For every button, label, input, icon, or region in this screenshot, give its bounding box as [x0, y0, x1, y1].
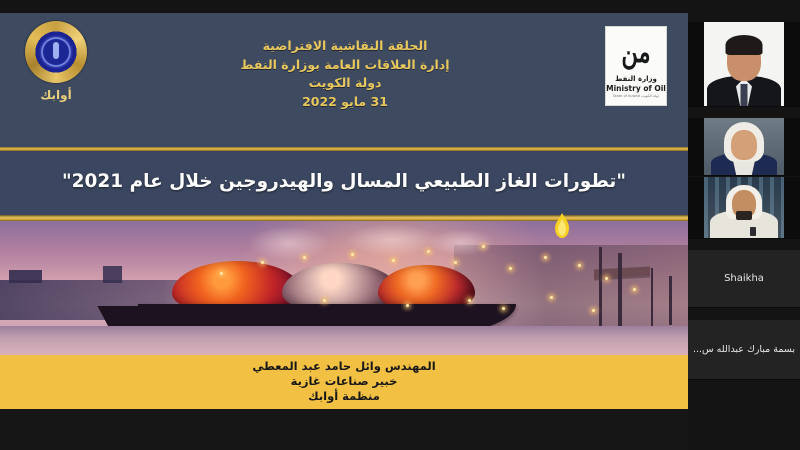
flame-icon	[553, 213, 571, 239]
slide-title-band: "تطورات الغاز الطبيعي المسال والهيدروجين…	[0, 151, 688, 215]
ministry-of-oil-label-ar: وزارة النفط	[606, 75, 666, 84]
terminal-lights	[0, 221, 688, 355]
ministry-of-oil-logo: من وزارة النفط Ministry of Oil دولة الكو…	[605, 26, 667, 106]
letterbox-bottom	[0, 409, 688, 450]
participant-video-1	[704, 22, 784, 106]
participant-tile-4[interactable]: Shaikha	[688, 250, 800, 308]
slide-hero-image	[0, 221, 688, 355]
participant-strip[interactable]: Shaikha بسمة مبارك عبدالله س...	[688, 0, 800, 450]
slide-title: "تطورات الغاز الطبيعي المسال والهيدروجين…	[62, 171, 626, 195]
participant-tile-2[interactable]	[688, 118, 800, 176]
screen-capture: أوابك الحلقة النقاشية الافتراضية إدارة ا…	[0, 0, 800, 450]
shared-screen-stage[interactable]: أوابك الحلقة النقاشية الافتراضية إدارة ا…	[0, 0, 688, 450]
oapec-emblem-icon	[25, 21, 87, 83]
participant-video-3	[704, 177, 784, 238]
participant-tile-5[interactable]: بسمة مبارك عبدالله س...	[688, 320, 800, 380]
header-line-4: 31 مايو 2022	[140, 93, 550, 112]
ministry-of-oil-sublabel: دولة الكويت State of Kuwait	[606, 93, 666, 99]
header-line-1: الحلقة النقاشية الافتراضية	[140, 37, 550, 56]
participant-name-4: Shaikha	[724, 273, 764, 284]
footer-line-3: منظمة أوابك	[0, 389, 688, 404]
presentation-slide: أوابك الحلقة النقاشية الافتراضية إدارة ا…	[0, 13, 688, 409]
footer-line-1: المهندس وائل حامد عبد المعطي	[0, 359, 688, 374]
participant-video-2	[704, 118, 784, 175]
ministry-of-oil-calligraphy-icon: من	[614, 31, 659, 75]
ministry-of-oil-label-en: Ministry of Oil	[606, 84, 666, 93]
slide-footer-band: المهندس وائل حامد عبد المعطي خبير صناعات…	[0, 355, 688, 409]
oapec-logo-label: أوابك	[18, 88, 94, 102]
participant-name-5: بسمة مبارك عبدالله س...	[693, 344, 795, 355]
oapec-logo: أوابك	[18, 21, 94, 121]
header-line-2: إدارة العلاقات العامة بوزارة النفط	[140, 56, 550, 75]
header-line-3: دولة الكويت	[140, 74, 550, 93]
participant-tile-1[interactable]	[688, 22, 800, 107]
footer-line-2: خبير صناعات غازية	[0, 374, 688, 389]
slide-header: أوابك الحلقة النقاشية الافتراضية إدارة ا…	[0, 13, 688, 147]
participant-tile-3[interactable]	[688, 177, 800, 239]
slide-header-text: الحلقة النقاشية الافتراضية إدارة العلاقا…	[140, 37, 550, 111]
letterbox-top	[0, 0, 688, 13]
